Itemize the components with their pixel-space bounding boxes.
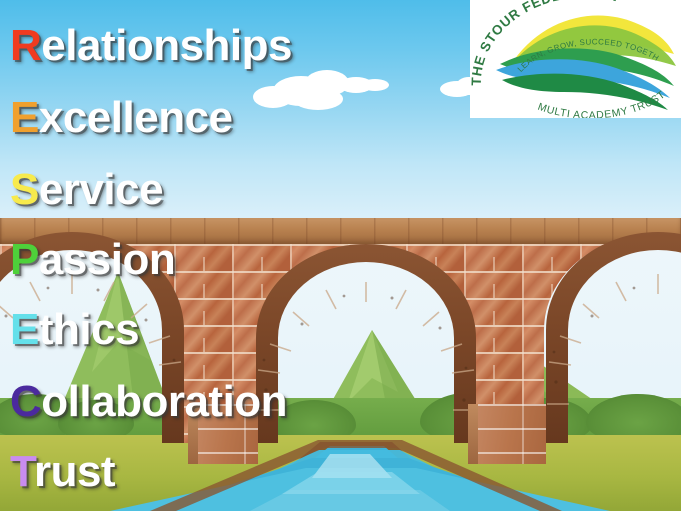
bridge-pier-right <box>474 404 546 464</box>
respect-values-poster: THE STOUR FEDERATION LEARN, GROW, SUCCEE… <box>0 0 681 511</box>
value-line-collaboration: Collaboration <box>10 380 287 424</box>
value-rest-trust: rust <box>34 447 115 496</box>
value-initial-e2: E <box>10 305 39 354</box>
value-rest-collaboration: ollaboration <box>41 377 287 426</box>
value-initial-r: R <box>10 21 41 70</box>
value-initial-t: T <box>10 447 34 496</box>
arch-ring-right <box>536 232 681 443</box>
value-rest-relationships: elationships <box>41 21 292 70</box>
value-line-relationships: Relationships <box>10 24 292 68</box>
value-line-trust: Trust <box>10 450 115 494</box>
value-rest-service: ervice <box>39 165 163 214</box>
value-initial-s: S <box>10 165 39 214</box>
value-rest-passion: assion <box>39 235 175 284</box>
value-line-passion: Passion <box>10 238 175 282</box>
value-rest-excellence: xcellence <box>39 93 233 142</box>
value-initial-e1: E <box>10 93 39 142</box>
value-initial-c: C <box>10 377 41 426</box>
logo-artwork: THE STOUR FEDERATION LEARN, GROW, SUCCEE… <box>470 0 681 118</box>
value-line-ethics: Ethics <box>10 308 139 352</box>
value-line-service: Service <box>10 168 163 212</box>
value-rest-ethics: thics <box>39 305 139 354</box>
stour-federation-logo: THE STOUR FEDERATION LEARN, GROW, SUCCEE… <box>470 0 681 118</box>
value-line-excellence: Excellence <box>10 96 233 140</box>
value-initial-p: P <box>10 235 39 284</box>
bridge-pier-edge-right <box>468 404 478 464</box>
